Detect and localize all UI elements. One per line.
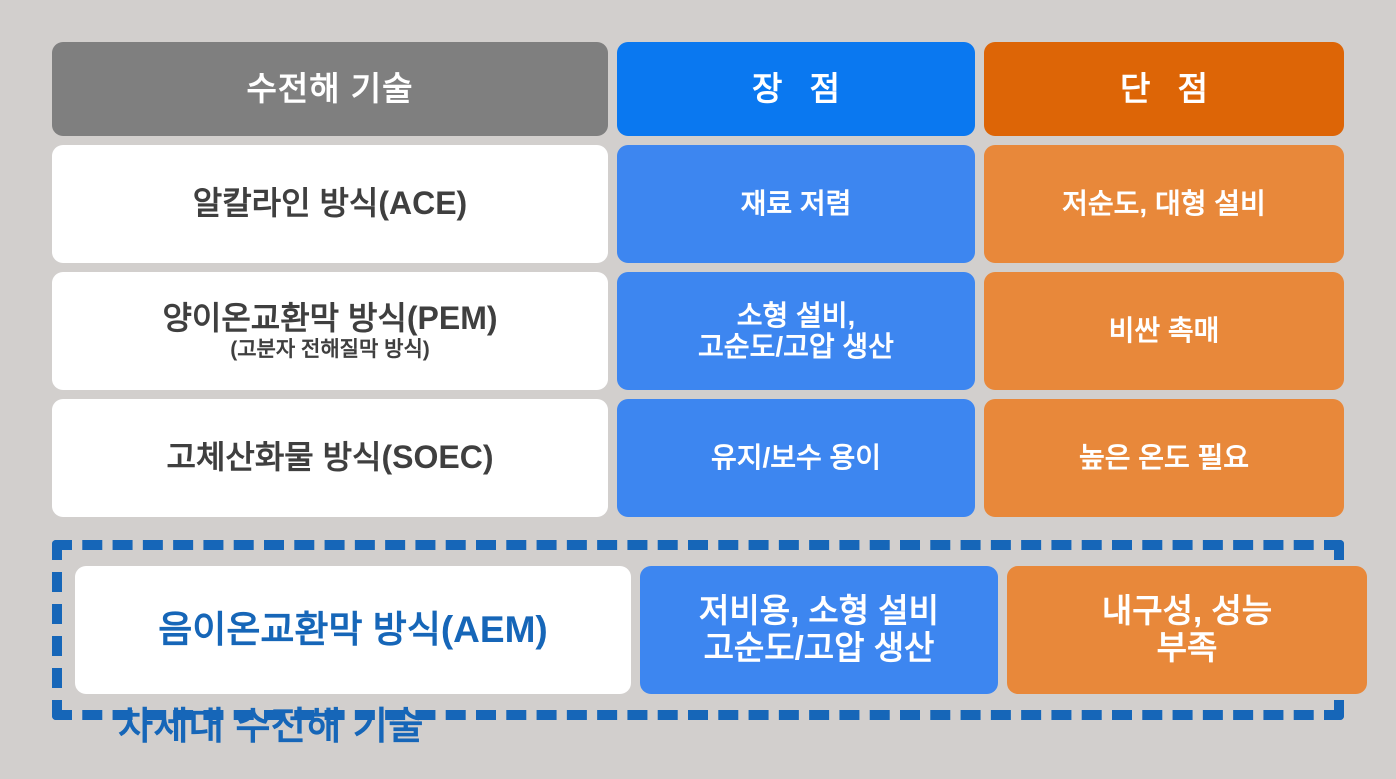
- cell-advantage: 재료 저렴: [617, 145, 975, 263]
- header-cell-advantage: 장 점: [617, 42, 975, 136]
- technology-subtitle: (고분자 전해질막 방식): [230, 338, 430, 362]
- table-row: 고체산화물 방식(SOEC) 유지/보수 용이 높은 온도 필요: [52, 399, 1344, 517]
- advantage-line-1: 저비용, 소형 설비: [699, 593, 939, 630]
- cell-technology: 음이온교환막 방식(AEM): [75, 566, 631, 694]
- cell-disadvantage: 높은 온도 필요: [984, 399, 1344, 517]
- disadvantage-text: 저순도, 대형 설비: [1062, 188, 1266, 219]
- table-row: 알칼라인 방식(ACE) 재료 저렴 저순도, 대형 설비: [52, 145, 1344, 263]
- technology-name: 양이온교환막 방식(PEM): [162, 301, 497, 337]
- cell-disadvantage: 비싼 촉매: [984, 272, 1344, 390]
- header-cell-technology: 수전해 기술: [52, 42, 608, 136]
- technology-name: 음이온교환막 방식(AEM): [158, 609, 547, 650]
- disadvantage-text: 내구성, 성능 부족: [1102, 593, 1272, 667]
- advantage-text: 재료 저렴: [741, 188, 852, 219]
- technology-name: 고체산화물 방식(SOEC): [167, 440, 494, 476]
- technology-name: 알칼라인 방식(ACE): [193, 186, 467, 222]
- cell-disadvantage: 저순도, 대형 설비: [984, 145, 1344, 263]
- cell-advantage: 소형 설비, 고순도/고압 생산: [617, 272, 975, 390]
- disadvantage-line-2: 부족: [1102, 630, 1272, 667]
- cell-advantage: 저비용, 소형 설비 고순도/고압 생산: [640, 566, 998, 694]
- cell-technology: 양이온교환막 방식(PEM) (고분자 전해질막 방식): [52, 272, 608, 390]
- electrolysis-technology-table: 수전해 기술 장 점 단 점 알칼라인 방식(ACE) 재료 저렴 저순도, 대…: [52, 42, 1344, 720]
- advantage-line-2: 고순도/고압 생산: [699, 630, 939, 667]
- table-row-highlighted-aem: 음이온교환막 방식(AEM) 저비용, 소형 설비 고순도/고압 생산 내구성,…: [52, 540, 1344, 720]
- advantage-text: 소형 설비, 고순도/고압 생산: [698, 300, 894, 363]
- disadvantage-text: 비싼 촉매: [1109, 315, 1220, 346]
- cell-disadvantage: 내구성, 성능 부족: [1007, 566, 1367, 694]
- disadvantage-text: 높은 온도 필요: [1079, 442, 1249, 473]
- advantage-line-1: 소형 설비,: [698, 300, 894, 331]
- advantage-text: 저비용, 소형 설비 고순도/고압 생산: [699, 593, 939, 667]
- cell-advantage: 유지/보수 용이: [617, 399, 975, 517]
- highlight-caption: 차세대 수전해 기술: [118, 695, 424, 750]
- cell-technology: 고체산화물 방식(SOEC): [52, 399, 608, 517]
- comparison-table-figure: 수전해 기술 장 점 단 점 알칼라인 방식(ACE) 재료 저렴 저순도, 대…: [0, 0, 1396, 779]
- disadvantage-line-1: 내구성, 성능: [1102, 593, 1272, 630]
- advantage-line-2: 고순도/고압 생산: [698, 331, 894, 362]
- table-row: 양이온교환막 방식(PEM) (고분자 전해질막 방식) 소형 설비, 고순도/…: [52, 272, 1344, 390]
- table-header-row: 수전해 기술 장 점 단 점: [52, 42, 1344, 136]
- header-cell-disadvantage: 단 점: [984, 42, 1344, 136]
- advantage-text: 유지/보수 용이: [711, 442, 881, 473]
- cell-technology: 알칼라인 방식(ACE): [52, 145, 608, 263]
